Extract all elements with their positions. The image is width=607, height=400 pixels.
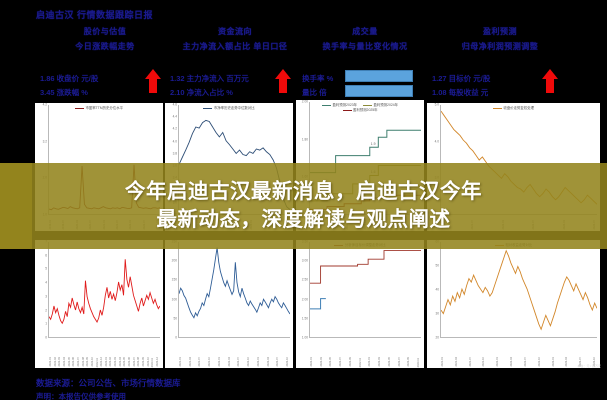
header-column-3: 成交量 换手率与量比变化情况 bbox=[310, 26, 420, 52]
x-tick-label: 2021-07 bbox=[470, 357, 473, 367]
data-row-4a: 1.27 目标价 元/股 bbox=[432, 73, 490, 84]
x-tick-label: 2021-10 bbox=[483, 357, 486, 367]
data-row-1a: 1.86 收盘价 元/股 bbox=[40, 73, 98, 84]
x-tick-label: 2021-07 bbox=[199, 357, 202, 367]
legend-swatch bbox=[322, 105, 331, 106]
x-tick-label: 2022-01 bbox=[219, 357, 222, 367]
legend-item: 收盘价走势复权处理 bbox=[493, 106, 534, 111]
x-tick-label: 2023-07 bbox=[277, 357, 280, 367]
data-row-3a: 换手率 % bbox=[302, 73, 333, 84]
x-tick-label: 2022-04 bbox=[64, 357, 67, 367]
x-tick-label: 2023-01 bbox=[369, 357, 372, 367]
y-tick-label: 40 bbox=[427, 288, 439, 291]
x-tick-label: 2023-11 bbox=[418, 358, 421, 367]
legend-label: 盈利预测2025年 bbox=[353, 108, 378, 112]
chart-legend: 盈利预测2023年盈利预测2024年盈利预测2025年 bbox=[296, 103, 424, 113]
legend-swatch bbox=[343, 110, 352, 111]
plot-area bbox=[179, 242, 290, 338]
y-tick-label: 30 bbox=[427, 312, 439, 315]
x-tick-label: 2023-01 bbox=[553, 357, 556, 367]
legend-label: 市盈率TTM历史分位水平 bbox=[86, 106, 123, 110]
x-tick-label: 2022-01 bbox=[497, 357, 500, 367]
x-tick-label: 2023-08 bbox=[138, 357, 141, 367]
plot-area bbox=[49, 242, 160, 338]
x-tick-label: 2023-09 bbox=[143, 357, 146, 367]
y-tick-label: 4.4 bbox=[165, 116, 177, 119]
x-tick-label: 2022-07 bbox=[78, 357, 81, 367]
article-title: 今年启迪古汉最新消息，启迪古汉今年 最新动态，深度解读与观点阐述 bbox=[0, 163, 607, 249]
series-plot bbox=[179, 242, 290, 338]
x-tick-label: 2022-10 bbox=[248, 357, 251, 367]
y-tick-label: 4 bbox=[35, 282, 47, 285]
x-tick-label: 2022-11 bbox=[360, 358, 363, 367]
x-tick-label: 2023-06 bbox=[129, 357, 132, 367]
x-tick-label: 2023-04 bbox=[268, 357, 271, 367]
header-column-4-line2: 归母净利润预测调整 bbox=[440, 41, 560, 52]
legend-swatch bbox=[363, 105, 372, 106]
x-tick-label: 2022-01 bbox=[311, 357, 314, 367]
y-tick-label: 4.2 bbox=[165, 128, 177, 131]
y-tick-label: 0 bbox=[165, 336, 177, 339]
y-tick-label: 2 bbox=[35, 309, 47, 312]
y-tick-label: 3.2 bbox=[35, 140, 47, 143]
legend-item: 市盈率TTM历史分位水平 bbox=[75, 106, 123, 111]
header-column-4-line1: 盈利预测 bbox=[440, 26, 560, 37]
header-column-2-line1: 资金流向 bbox=[170, 26, 300, 37]
legend-item: 盈利预测2025年 bbox=[343, 108, 378, 113]
x-tick-label: 2023-04 bbox=[566, 357, 569, 367]
y-tick-label: 50 bbox=[165, 317, 177, 320]
y-tick-label: 150 bbox=[165, 279, 177, 282]
x-tick-label: 2022-07 bbox=[525, 357, 528, 367]
data-row-2a: 1.32 主力净流入 百万元 bbox=[170, 73, 249, 84]
y-tick-label: 5 bbox=[35, 268, 47, 271]
plot-area bbox=[441, 242, 597, 338]
screenshot-root: 启迪古汉 行情数据跟踪日报 股价与估值 今日涨跌幅走势 资金流向 主力净流入额占… bbox=[0, 0, 607, 400]
series-line bbox=[179, 248, 290, 318]
x-tick-label: 2021-01 bbox=[442, 357, 445, 367]
x-tick-label: 2021-10 bbox=[209, 357, 212, 367]
x-tick-label: 2022-12 bbox=[101, 357, 104, 367]
data-point-label: 1.9 bbox=[371, 142, 376, 146]
series-line bbox=[310, 251, 421, 284]
header-column-2-line2: 主力净流入额占比 单日口径 bbox=[170, 41, 300, 52]
x-tick-label: 2023-03 bbox=[115, 357, 118, 367]
chart-legend: 市盈率TTM历史分位水平 bbox=[35, 106, 163, 111]
blue-bar-indicator-1 bbox=[345, 70, 413, 82]
y-tick-label: 3 bbox=[35, 295, 47, 298]
x-tick-label: 2021-01 bbox=[180, 357, 183, 367]
header-column-4: 盈利预测 归母净利润预测调整 bbox=[440, 26, 560, 52]
article-title-line-2: 最新动态，深度解读与观点阐述 bbox=[157, 206, 451, 234]
header-column-2: 资金流向 主力净流入额占比 单日口径 bbox=[170, 26, 300, 52]
series-line bbox=[441, 251, 597, 330]
y-tick-label: 4.0 bbox=[427, 140, 439, 143]
series-plot bbox=[441, 242, 597, 338]
legend-label: 盈利预测2023年 bbox=[333, 103, 358, 107]
x-tick-label: 2022-10 bbox=[92, 357, 95, 367]
series-line-secondary bbox=[310, 299, 326, 309]
x-tick-label: 2022-01 bbox=[50, 357, 53, 367]
legend-swatch bbox=[493, 108, 502, 109]
x-tick-label: 2022-04 bbox=[229, 357, 232, 367]
report-title: 启迪古汉 行情数据跟踪日报 bbox=[36, 8, 153, 21]
data-row-3b: 量比 倍 bbox=[302, 87, 327, 98]
y-tick-label: 1 bbox=[35, 323, 47, 326]
data-row-1b: 3.45 涨跌幅 % bbox=[40, 87, 88, 98]
x-tick-label: 2022-06 bbox=[73, 357, 76, 367]
y-tick-label: 6 bbox=[35, 254, 47, 257]
x-tick-label: 2022-09 bbox=[350, 357, 353, 367]
chart-panel-relative-return: 60504030202021-012021-042021-072021-1020… bbox=[427, 240, 600, 368]
y-tick-label: 3.00 bbox=[296, 260, 308, 263]
legend-label: 盈利预测2024年 bbox=[374, 103, 399, 107]
x-tick-label: 2022-03 bbox=[59, 357, 62, 367]
x-tick-label: 2022-03 bbox=[321, 357, 324, 367]
header-column-1-line1: 股价与估值 bbox=[50, 26, 160, 37]
x-tick-label: 2022-10 bbox=[539, 357, 542, 367]
x-tick-label: 2023-11 bbox=[152, 358, 155, 367]
article-title-line-1: 今年启迪古汉最新消息，启迪古汉今年 bbox=[125, 178, 482, 206]
data-row-2b: 2.10 净流入占比 % bbox=[170, 87, 233, 98]
x-tick-label: 2022-05 bbox=[330, 357, 333, 367]
y-tick-label: 200 bbox=[165, 260, 177, 263]
x-tick-label: 2023-10 bbox=[287, 357, 290, 367]
series-plot bbox=[49, 242, 160, 338]
y-tick-label: 20 bbox=[427, 336, 439, 339]
x-tick-label: 2023-09 bbox=[408, 357, 411, 367]
x-tick-label: 2023-03 bbox=[379, 357, 382, 367]
blue-bar-indicator-2 bbox=[345, 85, 413, 97]
legend-label: 收盘价走势复权处理 bbox=[503, 106, 534, 110]
x-tick-label: 2023-01 bbox=[258, 357, 261, 367]
header-column-1-line2: 今日涨跌幅走势 bbox=[50, 41, 160, 52]
header-column-1: 股价与估值 今日涨跌幅走势 bbox=[50, 26, 160, 52]
footer-unit-note: 单位：元 / 百万元 bbox=[577, 364, 601, 368]
x-tick-label: 2022-07 bbox=[340, 357, 343, 367]
chart-legend: 市净率历史走势中位数对比 bbox=[165, 106, 293, 111]
legend-swatch bbox=[203, 108, 212, 109]
footer-disclaimer: 声明：本报告仅供参考使用 bbox=[36, 391, 126, 400]
chart-panel-target-price: 3.503.002.502.001.501.002022-012022-0320… bbox=[296, 240, 424, 368]
chart-legend: 收盘价走势复权处理 bbox=[427, 106, 600, 111]
y-tick-label: 50 bbox=[427, 264, 439, 267]
x-tick-label: 2022-09 bbox=[87, 357, 90, 367]
x-tick-label: 2023-12 bbox=[157, 357, 160, 367]
x-tick-label: 2022-07 bbox=[238, 357, 241, 367]
chart-panel-volume-ratio: 2502001501005002021-012021-042021-072021… bbox=[165, 240, 293, 368]
y-tick-label: 4.0 bbox=[165, 140, 177, 143]
header-column-3-line2: 换手率与量比变化情况 bbox=[310, 41, 420, 52]
chart-panel-turnover-rate: 765432102022-012022-022022-032022-042022… bbox=[35, 240, 163, 368]
series-plot bbox=[310, 242, 421, 338]
y-tick-label: 3.8 bbox=[165, 152, 177, 155]
x-tick-label: 2022-04 bbox=[511, 357, 514, 367]
y-tick-label: 0 bbox=[35, 336, 47, 339]
y-tick-label: 1.00 bbox=[296, 336, 308, 339]
plot-area bbox=[310, 242, 421, 338]
y-tick-label: 100 bbox=[165, 298, 177, 301]
x-tick-label: 2023-05 bbox=[389, 357, 392, 367]
header-column-3-line1: 成交量 bbox=[310, 26, 420, 37]
legend-label: 市净率历史走势中位数对比 bbox=[214, 106, 255, 110]
footer-source: 数据来源：公司公告、市场行情数据库 bbox=[36, 377, 181, 389]
x-tick-label: 2023-07 bbox=[399, 357, 402, 367]
legend-item: 市净率历史走势中位数对比 bbox=[203, 106, 254, 111]
series-line bbox=[49, 259, 160, 323]
x-tick-label: 2021-04 bbox=[456, 357, 459, 367]
y-tick-label: 1.80 bbox=[296, 138, 308, 141]
data-row-4b: 1.08 每股收益 元 bbox=[432, 87, 488, 98]
legend-swatch bbox=[75, 108, 84, 109]
y-tick-label: 2.00 bbox=[296, 298, 308, 301]
x-tick-label: 2021-04 bbox=[190, 357, 193, 367]
y-tick-label: 2.50 bbox=[296, 279, 308, 282]
y-tick-label: 1.50 bbox=[296, 317, 308, 320]
